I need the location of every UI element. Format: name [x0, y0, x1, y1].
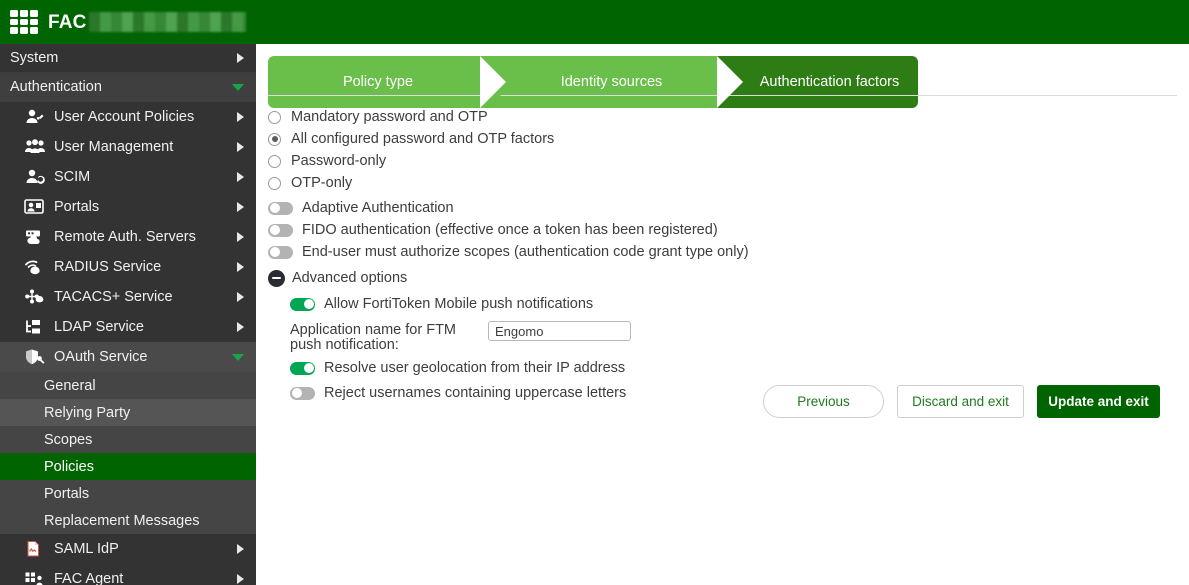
- submenu-item-portals[interactable]: Portals: [0, 480, 256, 507]
- sidebar-item-label: RADIUS Service: [54, 259, 237, 275]
- sidebar-item-label: OAuth Service: [54, 349, 232, 365]
- previous-button[interactable]: Previous: [763, 385, 884, 418]
- toggle-switch-off[interactable]: [268, 246, 293, 259]
- chevron-right-icon: [237, 232, 244, 242]
- sidebar-item-system[interactable]: System: [0, 44, 256, 73]
- form-action-buttons: Previous Discard and exit Update and exi…: [763, 385, 1160, 418]
- toggle-row-fido-authentication[interactable]: FIDO authentication (effective once a to…: [268, 219, 1177, 241]
- radio-row-mandatory-password-otp[interactable]: Mandatory password and OTP: [268, 106, 1177, 128]
- toggle-label: Adaptive Authentication: [302, 200, 454, 216]
- advanced-options-label: Advanced options: [292, 270, 407, 286]
- ftm-application-name-label: Application name for FTM push notificati…: [290, 321, 488, 353]
- chevron-down-icon: [232, 84, 244, 91]
- sidebar-item-radius-service[interactable]: RADIUS Service: [0, 252, 256, 282]
- chevron-right-icon: [237, 202, 244, 212]
- submenu-item-relying-party[interactable]: Relying Party: [0, 399, 256, 426]
- toggle-label: End-user must authorize scopes (authenti…: [302, 244, 749, 260]
- tacacs-node-icon: [24, 288, 46, 306]
- radio-icon[interactable]: [268, 177, 281, 190]
- sidebar-item-remote-auth-servers[interactable]: Remote Auth. Servers: [0, 222, 256, 252]
- portal-screen-icon: [24, 198, 46, 216]
- radio-label: Mandatory password and OTP: [291, 109, 488, 125]
- brand-title: FAC: [48, 13, 87, 32]
- chevron-right-icon: [237, 172, 244, 182]
- submenu-item-replacement-messages[interactable]: Replacement Messages: [0, 507, 256, 534]
- submenu-item-label: General: [44, 378, 96, 394]
- submenu-item-policies[interactable]: Policies: [0, 453, 256, 480]
- sidebar-item-authentication[interactable]: Authentication: [0, 73, 256, 102]
- wizard-step-label: Authentication factors: [760, 74, 899, 90]
- wizard-step-authentication-factors[interactable]: Authentication factors: [717, 56, 918, 108]
- sidebar-item-label: LDAP Service: [54, 319, 237, 335]
- sidebar-item-portals[interactable]: Portals: [0, 192, 256, 222]
- main-content: Policy type Identity sources Authenticat…: [256, 44, 1189, 585]
- toggle-switch-off[interactable]: [268, 202, 293, 215]
- shield-key-icon: [24, 348, 46, 366]
- toggle-label: Resolve user geolocation from their IP a…: [324, 360, 625, 376]
- redacted-hostname: [89, 12, 246, 32]
- minus-circle-icon[interactable]: [268, 270, 285, 287]
- chevron-right-icon: [237, 574, 244, 584]
- sidebar-item-oauth-service[interactable]: OAuth Service: [0, 342, 256, 372]
- radio-label: Password-only: [291, 153, 386, 169]
- document-saml-icon: [24, 540, 46, 558]
- toggle-row-adaptive-authentication[interactable]: Adaptive Authentication: [268, 197, 1177, 219]
- toggle-row-allow-ftm-push[interactable]: Allow FortiToken Mobile push notificatio…: [290, 293, 1177, 315]
- chevron-right-icon: [237, 53, 244, 63]
- ldap-tree-icon: [24, 318, 46, 336]
- sidebar-item-label: Authentication: [10, 79, 232, 95]
- sidebar-item-label: User Management: [54, 139, 237, 155]
- radio-label: All configured password and OTP factors: [291, 131, 554, 147]
- chevron-right-icon: [237, 112, 244, 122]
- sidebar-item-label: TACACS+ Service: [54, 289, 237, 305]
- server-cloud-icon: [24, 228, 46, 246]
- sidebar-item-ldap-service[interactable]: LDAP Service: [0, 312, 256, 342]
- toggle-row-resolve-geolocation[interactable]: Resolve user geolocation from their IP a…: [290, 357, 1177, 379]
- update-and-exit-button[interactable]: Update and exit: [1037, 385, 1160, 418]
- sidebar-item-scim[interactable]: SCIM: [0, 162, 256, 192]
- agent-grid-icon: [24, 570, 46, 585]
- radio-row-password-only[interactable]: Password-only: [268, 150, 1177, 172]
- submenu-item-label: Relying Party: [44, 405, 130, 421]
- chevron-right-icon: [237, 292, 244, 302]
- chevron-down-icon: [232, 354, 244, 361]
- discard-and-exit-button[interactable]: Discard and exit: [897, 385, 1024, 418]
- sidebar-item-label: SAML IdP: [54, 541, 237, 557]
- chevron-right-icon: [237, 544, 244, 554]
- sidebar-item-label: Remote Auth. Servers: [54, 229, 237, 245]
- submenu-item-scopes[interactable]: Scopes: [0, 426, 256, 453]
- top-header-bar: FAC: [0, 0, 1189, 44]
- toggle-label: Reject usernames containing uppercase le…: [324, 385, 626, 401]
- user-wrench-icon: [24, 108, 46, 126]
- radio-icon[interactable]: [268, 155, 281, 168]
- radio-icon-selected[interactable]: [268, 133, 281, 146]
- sidebar-item-label: System: [10, 50, 237, 66]
- submenu-item-label: Portals: [44, 486, 89, 502]
- submenu-item-label: Policies: [44, 459, 94, 475]
- submenu-item-label: Scopes: [44, 432, 92, 448]
- wizard-steps: Policy type Identity sources Authenticat…: [268, 56, 1189, 108]
- chevron-right-icon: [237, 322, 244, 332]
- sidebar-nav: System Authentication User Account Polic…: [0, 44, 256, 585]
- auth-factors-form: Mandatory password and OTP All configure…: [268, 106, 1177, 404]
- radio-label: OTP-only: [291, 175, 352, 191]
- chevron-right-icon: [237, 262, 244, 272]
- radio-row-all-configured-factors[interactable]: All configured password and OTP factors: [268, 128, 1177, 150]
- sidebar-item-user-management[interactable]: User Management: [0, 132, 256, 162]
- toggle-switch-on[interactable]: [290, 362, 315, 375]
- wizard-step-label: Identity sources: [561, 74, 663, 90]
- radius-signal-icon: [24, 258, 46, 276]
- radio-icon[interactable]: [268, 111, 281, 124]
- oauth-submenu: General Relying Party Scopes Policies Po…: [0, 372, 256, 534]
- wizard-step-policy-type[interactable]: Policy type: [268, 56, 488, 108]
- sidebar-item-label: FAC Agent: [54, 571, 237, 585]
- radio-row-otp-only[interactable]: OTP-only: [268, 172, 1177, 194]
- toggle-switch-off[interactable]: [290, 387, 315, 400]
- toggle-switch-on[interactable]: [290, 298, 315, 311]
- sidebar-item-fac-agent[interactable]: FAC Agent: [0, 564, 256, 585]
- sidebar-item-label: SCIM: [54, 169, 237, 185]
- sidebar-item-saml-idp[interactable]: SAML IdP: [0, 534, 256, 564]
- toggle-label: Allow FortiToken Mobile push notificatio…: [324, 296, 593, 312]
- wizard-step-label: Policy type: [343, 74, 413, 90]
- ftm-application-name-row: Application name for FTM push notificati…: [290, 321, 1177, 353]
- users-group-icon: [24, 138, 46, 156]
- sidebar-item-user-account-policies[interactable]: User Account Policies: [0, 102, 256, 132]
- sidebar-item-label: Portals: [54, 199, 237, 215]
- user-sync-icon: [24, 168, 46, 186]
- grid-waffle-icon[interactable]: [10, 10, 38, 34]
- toggle-row-end-user-authorize-scopes[interactable]: End-user must authorize scopes (authenti…: [268, 241, 1177, 263]
- sidebar-item-label: User Account Policies: [54, 109, 237, 125]
- chevron-right-icon: [237, 142, 244, 152]
- advanced-options-row[interactable]: Advanced options: [268, 267, 1177, 289]
- wizard-step-identity-sources[interactable]: Identity sources: [480, 56, 717, 108]
- submenu-item-label: Replacement Messages: [44, 513, 200, 529]
- sidebar-item-tacacs-service[interactable]: TACACS+ Service: [0, 282, 256, 312]
- submenu-item-general[interactable]: General: [0, 372, 256, 399]
- toggle-switch-off[interactable]: [268, 224, 293, 237]
- toggle-label: FIDO authentication (effective once a to…: [302, 222, 718, 238]
- ftm-application-name-input[interactable]: [488, 321, 631, 341]
- app-window: FAC System Authentication User Account P…: [0, 0, 1189, 585]
